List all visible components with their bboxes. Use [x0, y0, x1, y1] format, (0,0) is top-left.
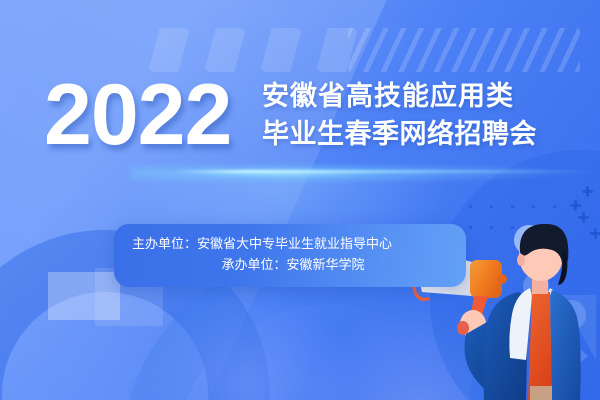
title-line-2: 毕业生春季网络招聘会 — [262, 116, 537, 154]
glow-center — [145, 280, 355, 400]
glow-bottom-left — [0, 330, 220, 400]
plus-mark-icon — [582, 186, 593, 197]
hexagon-icon — [148, 28, 190, 72]
organizer-info-pill: 主办单位：安徽省大中专毕业生就业指导中心 承办单位：安徽新华学院 — [114, 224, 466, 287]
diagonal-light-wedge — [0, 0, 408, 400]
trousers — [530, 386, 552, 400]
megaphone-cap — [497, 274, 507, 284]
hexagon-icon — [204, 28, 246, 72]
ear — [517, 254, 525, 266]
hexagon-icon — [316, 28, 358, 72]
headline-glow-line — [170, 170, 600, 173]
organizer-line-1: 主办单位：安徽省大中专毕业生就业指导中心 — [132, 234, 448, 255]
shirt — [528, 292, 552, 400]
organizer-line-2: 承办单位：安徽新华学院 — [132, 255, 448, 276]
title-line-1: 安徽省高技能应用类 — [262, 78, 537, 116]
diagonal-stripes-pattern — [348, 28, 580, 72]
decorative-square-light — [48, 272, 120, 320]
year-heading: 2022 — [44, 72, 231, 158]
headline-glow — [130, 162, 600, 184]
thumb — [457, 321, 469, 335]
page-title: 安徽省高技能应用类 毕业生春季网络招聘会 — [262, 78, 537, 154]
hexagon-icon — [260, 28, 302, 72]
recruitment-banner: 2022 安徽省高技能应用类 毕业生春季网络招聘会 — [0, 0, 600, 400]
